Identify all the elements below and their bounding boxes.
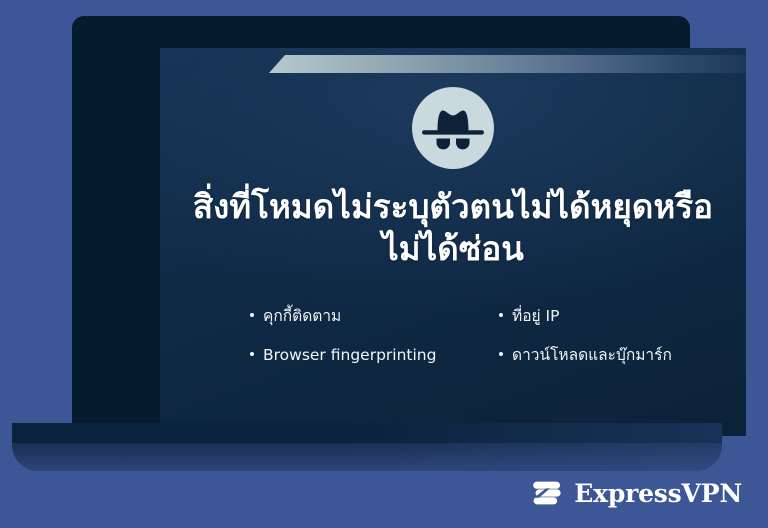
laptop-base xyxy=(12,423,722,471)
list-item: ดาวน์โหลดและบุ๊กมาร์ก xyxy=(499,345,700,366)
headline: สิ่งที่โหมดไม่ระบุตัวตนไม่ได้หยุดหรือไม่… xyxy=(186,186,720,269)
list-item-label: Browser fingerprinting xyxy=(263,345,436,366)
bullet-list: คุกกี้ติดตาม Browser fingerprinting ที่อ… xyxy=(250,306,700,366)
bullet-dot-icon xyxy=(499,313,503,317)
expressvpn-wordmark: ExpressVPN xyxy=(574,481,742,506)
bullet-column-left: คุกกี้ติดตาม Browser fingerprinting xyxy=(250,306,451,366)
laptop-screen: สิ่งที่โหมดไม่ระบุตัวตนไม่ได้หยุดหรือไม่… xyxy=(160,48,746,436)
list-item: คุกกี้ติดตาม xyxy=(250,306,451,327)
incognito-hat-icon xyxy=(411,86,495,170)
list-item-label: ดาวน์โหลดและบุ๊กมาร์ก xyxy=(512,345,672,366)
list-item: ที่อยู่ IP xyxy=(499,306,700,327)
decorative-light-stripe xyxy=(269,55,746,73)
list-item-label: คุกกี้ติดตาม xyxy=(263,306,341,327)
expressvpn-logo: ExpressVPN xyxy=(530,476,742,510)
expressvpn-e-mark-icon xyxy=(530,476,564,510)
list-item-label: ที่อยู่ IP xyxy=(512,306,559,327)
bullet-dot-icon xyxy=(499,352,503,356)
laptop-bezel: สิ่งที่โหมดไม่ระบุตัวตนไม่ได้หยุดหรือไม่… xyxy=(72,16,690,428)
bullet-column-right: ที่อยู่ IP ดาวน์โหลดและบุ๊กมาร์ก xyxy=(451,306,700,366)
poster-canvas: สิ่งที่โหมดไม่ระบุตัวตนไม่ได้หยุดหรือไม่… xyxy=(0,0,768,528)
bullet-dot-icon xyxy=(250,352,254,356)
list-item: Browser fingerprinting xyxy=(250,345,451,366)
laptop-base-highlight xyxy=(342,423,722,471)
bullet-dot-icon xyxy=(250,313,254,317)
